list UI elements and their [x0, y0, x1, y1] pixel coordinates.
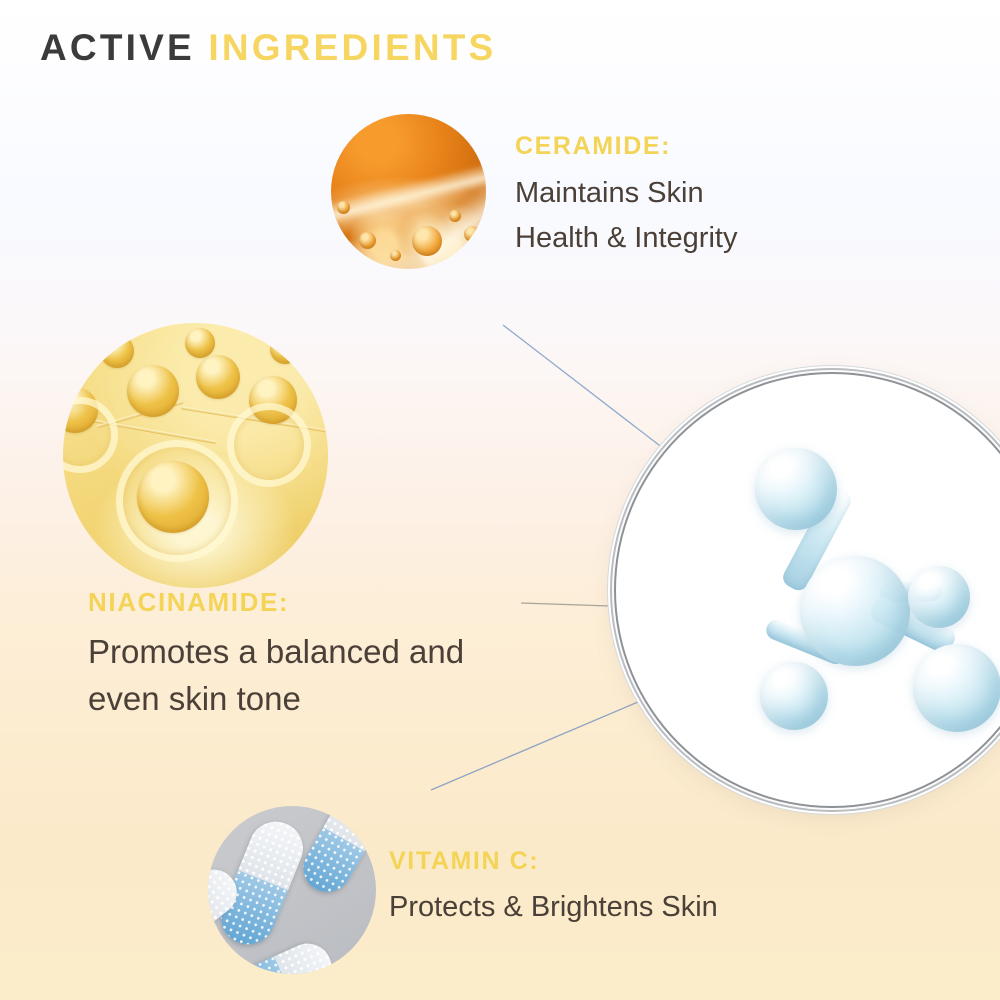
ingredient-description-ceramide: Maintains Skin Health & Integrity [515, 171, 737, 261]
description-line: Promotes a balanced and [88, 628, 464, 675]
molecule-bead-center [137, 461, 209, 533]
ingredient-image-niacinamide [63, 323, 328, 588]
molecule-atom-top [755, 448, 837, 530]
ingredient-label-niacinamide: NIACINAMIDE: [88, 589, 464, 615]
ingredient-label-vitaminc: VITAMIN C: [389, 849, 718, 874]
infographic-canvas: ACTIVE INGREDIENTS [0, 0, 1000, 1000]
molecule-bead [127, 365, 179, 417]
molecule-atom-center [800, 556, 910, 666]
connector-line-ceramide [503, 325, 668, 452]
molecule-bead-ring [63, 397, 118, 473]
oil-bubble [337, 201, 350, 214]
ingredient-image-vitaminc [208, 806, 376, 974]
molecule-atom-right-small [908, 566, 970, 628]
molecule-bead-ring [227, 403, 311, 487]
oil-bubble [449, 210, 461, 222]
molecule-atom-bottom-right [913, 644, 1000, 732]
capsule-secondary [295, 806, 376, 900]
ingredient-text-vitaminc: VITAMIN C: Protects & Brightens Skin [389, 849, 718, 928]
description-line: Maintains Skin [515, 171, 737, 216]
ingredient-description-niacinamide: Promotes a balanced and even skin tone [88, 628, 464, 722]
oil-bubble [359, 232, 376, 249]
oil-bubble [464, 226, 480, 242]
ingredient-text-ceramide: CERAMIDE: Maintains Skin Health & Integr… [515, 134, 737, 261]
molecule-atom-bottom-left [760, 662, 828, 730]
molecule-bead [185, 328, 215, 358]
molecule-bead [196, 355, 240, 399]
oil-bubble [390, 250, 401, 261]
molecule-bead [100, 334, 134, 368]
description-line: Health & Integrity [515, 216, 737, 261]
ingredient-description-vitaminc: Protects & Brightens Skin [389, 886, 718, 928]
description-line: Protects & Brightens Skin [389, 886, 718, 928]
molecule-bead [270, 334, 300, 364]
ingredient-image-ceramide [331, 114, 486, 269]
description-line: even skin tone [88, 675, 464, 722]
ingredient-label-ceramide: CERAMIDE: [515, 134, 737, 159]
capsule-white-half [273, 936, 340, 974]
ingredient-text-niacinamide: NIACINAMIDE: Promotes a balanced and eve… [88, 589, 464, 722]
oil-bubble [412, 226, 442, 256]
